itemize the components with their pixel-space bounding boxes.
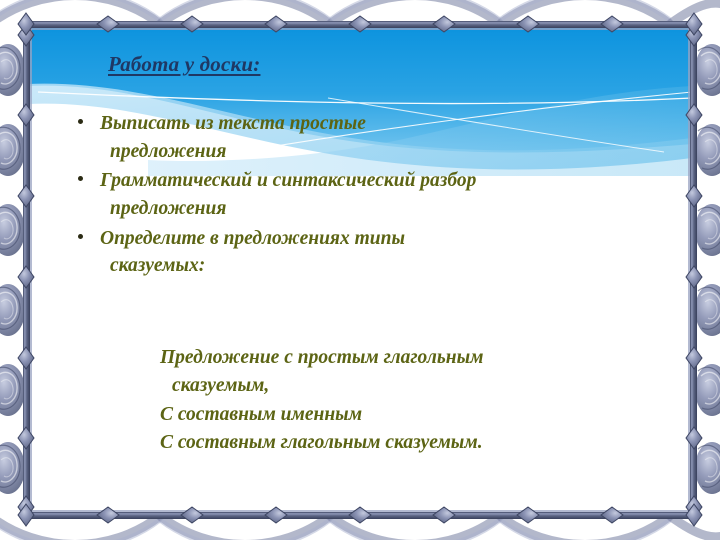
list-item: Определите в предложениях типы сказуемых… [66, 225, 686, 280]
page-title: Работа у доски: [108, 52, 260, 77]
slide-canvas: Работа у доски: Выписать из текста прост… [28, 26, 692, 514]
presentation-slide: Работа у доски: Выписать из текста прост… [0, 0, 720, 540]
task-bullet-list: Выписать из текста простые предложения Г… [66, 110, 686, 282]
sub-list-item: С составным именным [160, 401, 692, 429]
sub-list-item: Предложение с простым глагольным [160, 344, 692, 372]
bullet-line-continuation: предложения [100, 138, 686, 166]
bullet-dot-icon [78, 234, 83, 239]
bullet-line-continuation: предложения [100, 195, 686, 223]
bullet-line: Выписать из текста простые [100, 110, 686, 138]
bullet-line: Грамматический и синтаксический разбор [100, 167, 686, 195]
list-item: Выписать из текста простые предложения [66, 110, 686, 165]
bullet-dot-icon [78, 119, 83, 124]
bullet-dot-icon [78, 176, 83, 181]
bullet-line-continuation: сказуемых: [100, 252, 686, 280]
list-item: Грамматический и синтаксический разбор п… [66, 167, 686, 222]
predicate-type-sublist: Предложение с простым глагольным сказуем… [160, 344, 692, 457]
sub-list-item: сказуемым, [160, 372, 692, 400]
sub-list-item: С составным глагольным сказуемым. [160, 429, 692, 457]
bullet-line: Определите в предложениях типы [100, 225, 686, 253]
slide-content: Работа у доски: Выписать из текста прост… [28, 26, 692, 514]
